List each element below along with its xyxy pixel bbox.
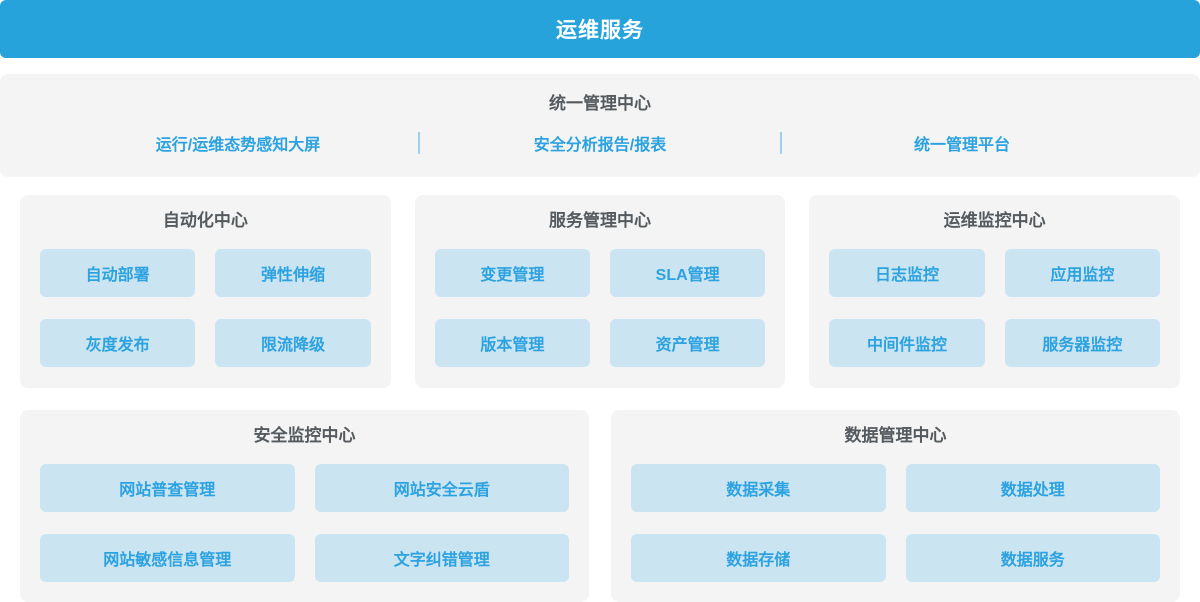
- tile-server-monitoring[interactable]: 服务器监控: [1005, 319, 1160, 367]
- tile-middleware-monitoring[interactable]: 中间件监控: [829, 319, 984, 367]
- panel-title: 服务管理中心: [435, 207, 766, 235]
- panel-row-bottom: 安全监控中心 网站普查管理 网站安全云盾 网站敏感信息管理 文字纠错管理 数据管…: [20, 410, 1180, 602]
- tile-grid: 变更管理 SLA管理 版本管理 资产管理: [435, 249, 766, 367]
- tile-gray-release[interactable]: 灰度发布: [40, 319, 195, 367]
- tile-grid: 网站普查管理 网站安全云盾 网站敏感信息管理 文字纠错管理: [40, 464, 569, 582]
- management-center-item-report[interactable]: 安全分析报告/报表: [420, 131, 780, 155]
- panel-title: 运维监控中心: [829, 207, 1160, 235]
- management-center-items: 运行/运维态势感知大屏 安全分析报告/报表 统一管理平台: [0, 131, 1200, 155]
- panel-title: 数据管理中心: [631, 422, 1160, 450]
- tile-rate-limit-degrade[interactable]: 限流降级: [215, 319, 370, 367]
- tile-auto-deploy[interactable]: 自动部署: [40, 249, 195, 297]
- panel-title: 自动化中心: [40, 207, 371, 235]
- panel-row-top: 自动化中心 自动部署 弹性伸缩 灰度发布 限流降级 服务管理中心 变更管理 SL…: [20, 195, 1180, 388]
- tile-log-monitoring[interactable]: 日志监控: [829, 249, 984, 297]
- management-center-band: 统一管理中心 运行/运维态势感知大屏 安全分析报告/报表 统一管理平台: [0, 74, 1200, 177]
- tile-sla-management[interactable]: SLA管理: [610, 249, 765, 297]
- tile-website-sensitive-info-management[interactable]: 网站敏感信息管理: [40, 534, 295, 582]
- service-header-band: 运维服务: [0, 0, 1200, 58]
- tile-data-service[interactable]: 数据服务: [906, 534, 1161, 582]
- diagram-canvas: 运维服务 统一管理中心 运行/运维态势感知大屏 安全分析报告/报表 统一管理平台…: [0, 0, 1200, 602]
- tile-grid: 自动部署 弹性伸缩 灰度发布 限流降级: [40, 249, 371, 367]
- panel-ops-monitoring-center: 运维监控中心 日志监控 应用监控 中间件监控 服务器监控: [809, 195, 1180, 388]
- tile-website-census-management[interactable]: 网站普查管理: [40, 464, 295, 512]
- management-center-item-platform[interactable]: 统一管理平台: [782, 131, 1142, 155]
- tile-data-collection[interactable]: 数据采集: [631, 464, 886, 512]
- tile-grid: 数据采集 数据处理 数据存储 数据服务: [631, 464, 1160, 582]
- tile-version-management[interactable]: 版本管理: [435, 319, 590, 367]
- tile-change-management[interactable]: 变更管理: [435, 249, 590, 297]
- panel-security-monitoring-center: 安全监控中心 网站普查管理 网站安全云盾 网站敏感信息管理 文字纠错管理: [20, 410, 589, 602]
- tile-text-correction-management[interactable]: 文字纠错管理: [315, 534, 570, 582]
- panel-service-management-center: 服务管理中心 变更管理 SLA管理 版本管理 资产管理: [415, 195, 786, 388]
- panel-automation-center: 自动化中心 自动部署 弹性伸缩 灰度发布 限流降级: [20, 195, 391, 388]
- tile-data-storage[interactable]: 数据存储: [631, 534, 886, 582]
- tile-website-security-cloud-shield[interactable]: 网站安全云盾: [315, 464, 570, 512]
- management-center-title: 统一管理中心: [0, 91, 1200, 117]
- tile-data-processing[interactable]: 数据处理: [906, 464, 1161, 512]
- tile-elastic-scaling[interactable]: 弹性伸缩: [215, 249, 370, 297]
- panel-data-management-center: 数据管理中心 数据采集 数据处理 数据存储 数据服务: [611, 410, 1180, 602]
- page-title: 运维服务: [556, 14, 644, 44]
- management-center-item-dashboard[interactable]: 运行/运维态势感知大屏: [58, 131, 418, 155]
- panel-title: 安全监控中心: [40, 422, 569, 450]
- tile-asset-management[interactable]: 资产管理: [610, 319, 765, 367]
- tile-grid: 日志监控 应用监控 中间件监控 服务器监控: [829, 249, 1160, 367]
- tile-application-monitoring[interactable]: 应用监控: [1005, 249, 1160, 297]
